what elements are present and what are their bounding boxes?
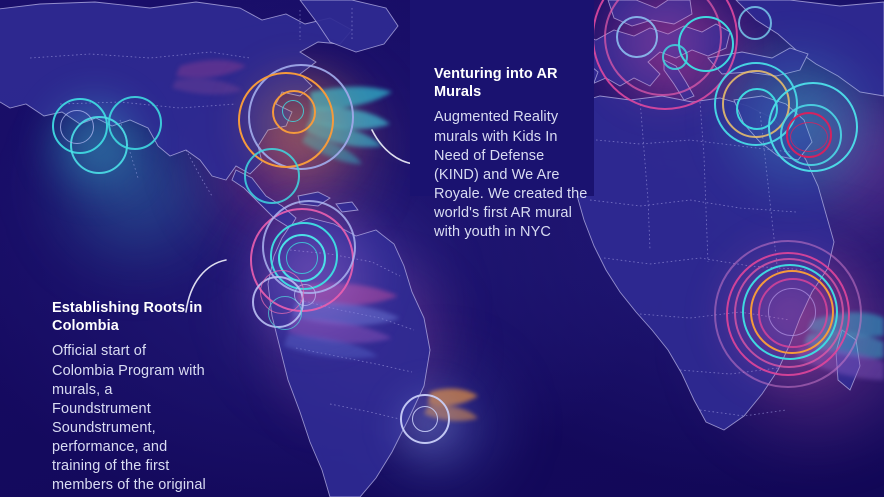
ring-brazil-outer <box>400 394 450 444</box>
ring-asia-gold <box>722 70 790 138</box>
halo-europe <box>580 0 750 126</box>
ring-asia-cyan-right-big <box>768 82 858 172</box>
ring-us-west-a <box>52 98 108 154</box>
callout-ar-murals[interactable]: Venturing into AR Murals Augmented Reali… <box>410 0 594 196</box>
ring-africa-magenta-2 <box>734 258 844 368</box>
callout-colombia[interactable]: Establishing Roots in Colombia Official … <box>52 300 212 497</box>
ring-us-west-b <box>70 116 128 174</box>
ring-colombia-dot <box>294 284 316 306</box>
ring-africa-pink-outer <box>714 240 862 388</box>
ring-caribbean-cyan-mid <box>278 234 326 282</box>
ring-europe-italy-cyan <box>678 16 734 72</box>
ring-northeast-teal-below <box>244 148 300 204</box>
ring-asia-cyan-outer <box>714 62 798 146</box>
ring-colombia-pink <box>260 270 304 314</box>
ring-asia-cyan-right-mid <box>780 104 842 166</box>
callout-ar-murals-body: Augmented Reality murals with Kids In Ne… <box>434 108 590 242</box>
ring-europe-uk-cyan <box>616 16 658 58</box>
callout-colombia-body: Official start of Colombia Program with … <box>52 342 212 497</box>
ring-caribbean-pink-outer <box>250 208 354 312</box>
halo-caribbean <box>232 192 398 358</box>
ring-europe-italy-small <box>662 44 688 70</box>
ring-us-west-c <box>108 96 162 150</box>
ring-brazil-inner <box>412 406 438 432</box>
ring-colombia-teal <box>268 296 302 330</box>
ring-caribbean-cyan-big <box>270 222 338 290</box>
ring-asia-cyan-mid <box>736 88 778 130</box>
ring-northeast-inner-teal <box>282 100 304 122</box>
ring-northeast-outer-lavender <box>248 64 354 170</box>
ring-europe-magenta-outer <box>592 0 738 110</box>
ring-us-west-d <box>60 110 94 144</box>
ring-asia-crimson <box>786 112 832 158</box>
ring-africa-magenta-3 <box>758 278 828 348</box>
ring-africa-inner <box>768 288 816 336</box>
ring-africa-magenta-1 <box>726 252 850 376</box>
ring-asia-crimson-inner <box>790 122 828 152</box>
halo-africa <box>700 224 880 404</box>
ring-northeast-orange-large <box>238 72 334 168</box>
callout-ar-murals-heading: Venturing into AR Murals <box>434 66 590 101</box>
halo-brazil <box>382 378 478 474</box>
ring-caribbean-lavender <box>262 200 356 294</box>
ring-europe-far-cyan <box>738 6 772 40</box>
ring-colombia-lavender <box>252 276 304 328</box>
halo-us-northeast <box>222 48 372 198</box>
ring-africa-orange <box>750 270 834 354</box>
halo-asia <box>696 26 884 216</box>
callout-colombia-heading: Establishing Roots in Colombia <box>52 300 212 335</box>
ring-africa-cyan <box>742 264 838 360</box>
halo-us-west <box>30 78 160 208</box>
map-visualization: .land{fill:#2f2a93;fill-opacity:.92;stro… <box>0 0 884 497</box>
ring-europe-magenta-inner <box>604 0 722 96</box>
ring-caribbean-cyan-small <box>286 242 318 274</box>
ring-northeast-orange-small <box>272 90 316 134</box>
